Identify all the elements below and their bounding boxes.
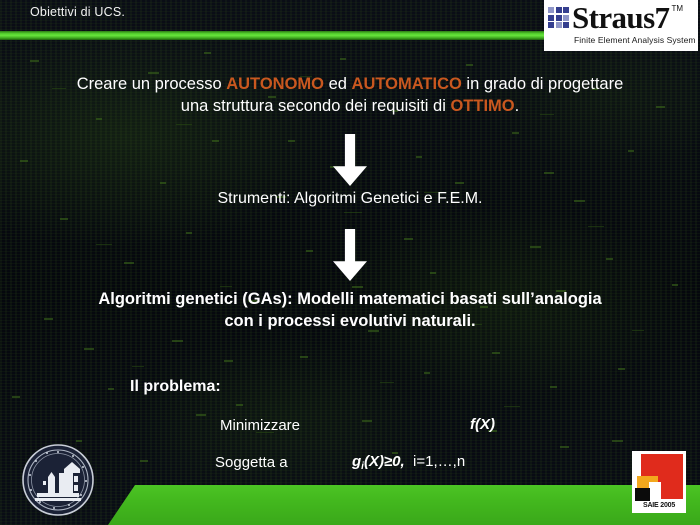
constraint-function-name: g xyxy=(352,453,361,470)
intro-text-1: Creare un processo xyxy=(77,75,227,93)
straus7-name: Straus7 xyxy=(572,2,669,34)
straus7-wordmark: Straus7 TM xyxy=(548,2,683,34)
straus7-tagline: Finite Element Analysis System xyxy=(548,35,696,45)
saie-2005-logo: SAIE 2005 xyxy=(632,451,686,513)
objective-function-expression: f(X) xyxy=(470,416,495,433)
highlight-autonomo: AUTONOMO xyxy=(226,75,324,93)
subject-to-label: Soggetta a xyxy=(215,454,288,471)
straus7-grid-icon xyxy=(548,7,570,29)
problem-heading: Il problema: xyxy=(130,378,221,396)
constraint-inequality: (X)≥0, xyxy=(364,453,405,470)
constraint-index-range: i=1,…,n xyxy=(413,453,465,470)
highlight-automatico: AUTOMATICO xyxy=(352,75,462,93)
intro-text-4: . xyxy=(515,97,520,115)
university-seal-logo xyxy=(21,443,95,517)
highlight-ottimo: OTTIMO xyxy=(450,97,514,115)
intro-statement: Creare un processo AUTONOMO ed AUTOMATIC… xyxy=(0,74,700,118)
saie-black-square xyxy=(635,488,650,502)
straus7-logo: Straus7 TM Finite Element Analysis Syste… xyxy=(544,0,698,51)
saie-logo-graphic: SAIE 2005 xyxy=(635,454,683,510)
minimize-label: Minimizzare xyxy=(220,417,300,434)
constraint-expression: gi(X)≥0, i=1,…,n xyxy=(352,453,465,472)
presentation-slide: Obiettivi di UCS. Straus7 TM Finite Elem… xyxy=(0,0,700,525)
saie-white-notch xyxy=(649,482,661,503)
tools-statement: Strumenti: Algoritmi Genetici e F.E.M. xyxy=(0,188,700,209)
trademark-symbol: TM xyxy=(671,4,683,14)
intro-text-2: ed xyxy=(324,75,352,93)
slide-header-title: Obiettivi di UCS. xyxy=(30,5,125,19)
gas-definition: Algoritmi genetici (GAs): Modelli matema… xyxy=(0,289,700,333)
saie-logo-label: SAIE 2005 xyxy=(635,501,683,510)
